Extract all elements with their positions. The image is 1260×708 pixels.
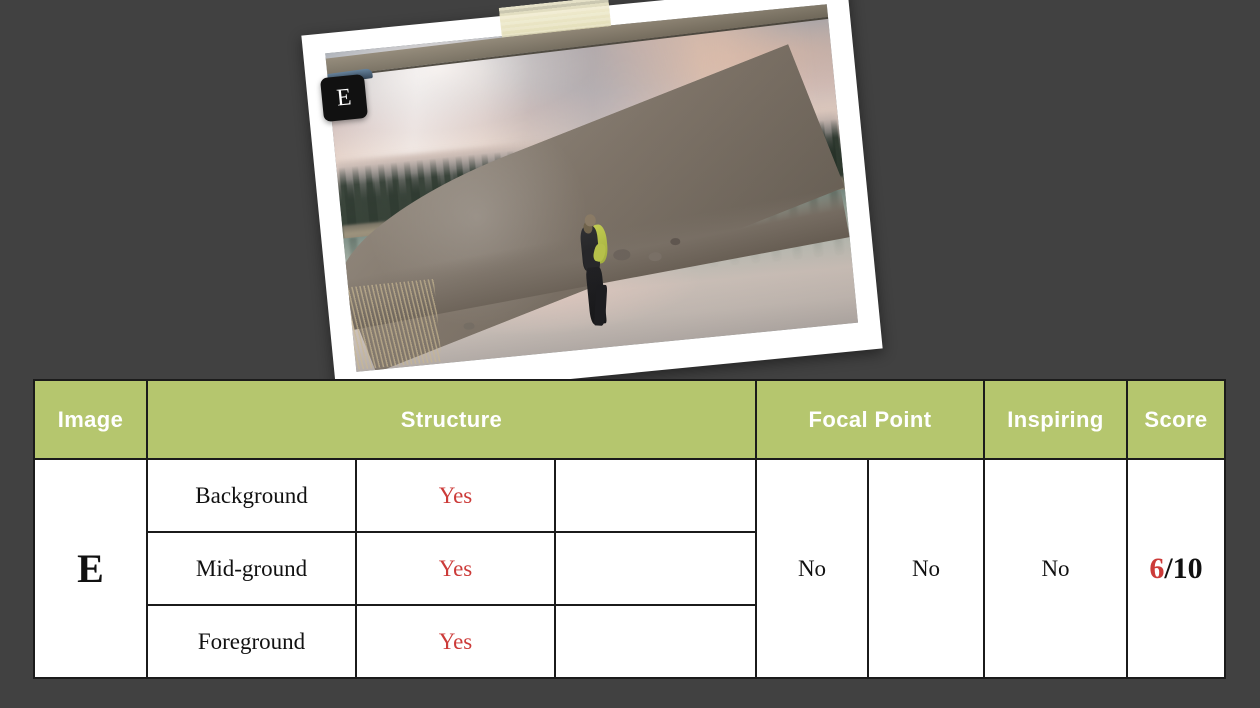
cell-inspiring[interactable]: No <box>984 459 1127 678</box>
table-header-row: Image Structure Focal Point Inspiring Sc… <box>34 380 1225 459</box>
cell-structure-note-foreground[interactable] <box>555 605 756 678</box>
cell-image-letter: E <box>34 459 147 678</box>
photo-label-letter: E <box>336 85 353 110</box>
photo-card[interactable] <box>301 0 882 402</box>
cell-structure-value-foreground[interactable]: Yes <box>356 605 555 678</box>
cell-structure-value-background[interactable]: Yes <box>356 459 555 532</box>
table-row: E Background Yes No No No 6/10 <box>34 459 1225 532</box>
photo-person-head <box>584 213 596 227</box>
photo-image <box>325 4 858 372</box>
cell-score[interactable]: 6/10 <box>1127 459 1225 678</box>
photo-label-badge: E <box>320 74 368 122</box>
photo-card-container <box>318 8 866 376</box>
cell-structure-value-midground[interactable]: Yes <box>356 532 555 605</box>
photo-rock <box>670 237 681 245</box>
cell-structure-label-background: Background <box>147 459 356 532</box>
header-image[interactable]: Image <box>34 380 147 459</box>
rubric-table: Image Structure Focal Point Inspiring Sc… <box>33 379 1226 679</box>
header-structure[interactable]: Structure <box>147 380 756 459</box>
score-number: 6 <box>1149 552 1164 585</box>
header-score[interactable]: Score <box>1127 380 1225 459</box>
cell-structure-label-foreground: Foreground <box>147 605 356 678</box>
photo-reeds <box>348 279 441 370</box>
cell-structure-note-midground[interactable] <box>555 532 756 605</box>
cell-focal-point-b[interactable]: No <box>868 459 984 678</box>
header-inspiring[interactable]: Inspiring <box>984 380 1127 459</box>
header-focal-point[interactable]: Focal Point <box>756 380 984 459</box>
cell-structure-label-midground: Mid-ground <box>147 532 356 605</box>
cell-focal-point-a[interactable]: No <box>756 459 868 678</box>
score-total: /10 <box>1164 552 1202 585</box>
cell-structure-note-background[interactable] <box>555 459 756 532</box>
